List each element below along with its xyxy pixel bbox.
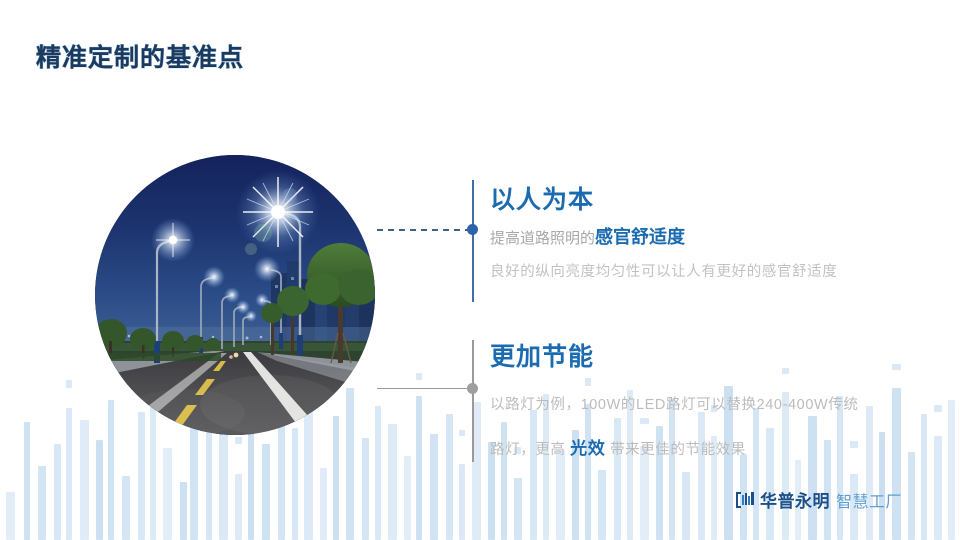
block-2-description-line1: 以路灯为例，100W的LED路灯可以替换240-400W传统	[490, 392, 910, 418]
decorative-bar	[556, 450, 565, 540]
decorative-bar	[921, 414, 927, 540]
decorative-bar	[430, 434, 438, 540]
decorative-bar-fleck	[66, 380, 72, 388]
decorative-bar	[362, 438, 369, 540]
decorative-bar	[180, 482, 187, 540]
decorative-bar	[122, 476, 130, 540]
block-1-subtitle-highlight: 感官舒适度	[595, 227, 685, 247]
connector-line-2	[377, 388, 472, 389]
decorative-bar	[54, 444, 61, 540]
decorative-bar	[38, 466, 46, 540]
slide-canvas: 精准定制的基准点	[0, 0, 960, 540]
night-road-photo-svg	[95, 155, 375, 435]
decorative-bar	[292, 428, 298, 540]
block-2-description-line2: 路灯，更高 光效 带来更佳的节能效果	[490, 436, 910, 463]
logo-company-name: 华普永明	[760, 487, 830, 512]
decorative-bar-fleck	[459, 430, 465, 436]
decorative-bar	[908, 452, 915, 540]
decorative-bar	[138, 412, 145, 540]
block-1-subtitle-plain: 提高道路照明的	[490, 230, 595, 247]
decorative-bar	[416, 396, 422, 540]
decorative-bar	[333, 416, 339, 540]
decorative-bar	[446, 414, 453, 540]
decorative-bar-fleck	[934, 405, 942, 412]
night-road-photo	[95, 155, 375, 435]
block-2-heading: 更加节能	[490, 340, 910, 374]
decorative-bar	[682, 472, 690, 540]
node-dot-2	[467, 383, 478, 394]
feature-block-2: 更加节能 以路灯为例，100W的LED路灯可以替换240-400W传统 路灯，更…	[490, 340, 910, 463]
block-2-desc-pre: 路灯，更高	[490, 442, 570, 458]
bracket-bars-icon	[735, 490, 755, 510]
decorative-bar	[948, 400, 955, 540]
decorative-bar	[163, 448, 172, 540]
node-dot-1	[467, 224, 478, 235]
decorative-bar	[934, 436, 942, 540]
page-title: 精准定制的基准点	[36, 38, 244, 74]
block-1-heading: 以人为本	[490, 183, 910, 217]
block-1-subtitle: 提高道路照明的感官舒适度	[490, 226, 910, 250]
connector-line-1	[377, 229, 472, 231]
decorative-bar	[262, 444, 270, 540]
decorative-bar	[96, 440, 103, 540]
block-1-description: 良好的纵向亮度均匀性可以让人有更好的感官舒适度	[490, 259, 910, 285]
decorative-bar	[598, 470, 606, 540]
decorative-bar	[514, 478, 522, 540]
decorative-bar	[346, 388, 354, 540]
decorative-bar	[108, 400, 114, 540]
decorative-bar	[404, 456, 411, 540]
decorative-bar	[206, 432, 212, 540]
decorative-bar	[80, 420, 89, 540]
decorative-bar-fleck	[235, 437, 242, 444]
block-2-desc-highlight: 光效	[570, 439, 605, 458]
decorative-bar	[150, 390, 156, 540]
block-2-desc-post: 带来更佳的节能效果	[605, 442, 746, 458]
vertical-rule-1	[472, 180, 474, 302]
feature-block-1: 以人为本 提高道路照明的感官舒适度 良好的纵向亮度均匀性可以让人有更好的感官舒适…	[490, 183, 910, 285]
decorative-bar	[459, 464, 465, 540]
decorative-bar	[375, 406, 381, 540]
vertical-rule-2	[472, 340, 474, 462]
decorative-bar-fleck	[416, 373, 422, 380]
decorative-bar	[6, 492, 15, 540]
decorative-bar	[388, 424, 397, 540]
decorative-bar	[320, 468, 327, 540]
decorative-bar	[66, 408, 72, 540]
decorative-bar	[235, 474, 242, 540]
brand-logo: 华普永明 智慧工厂	[735, 487, 902, 512]
decorative-bar	[248, 420, 254, 540]
decorative-bar	[24, 422, 30, 540]
logo-sub-name: 智慧工厂	[836, 488, 902, 512]
